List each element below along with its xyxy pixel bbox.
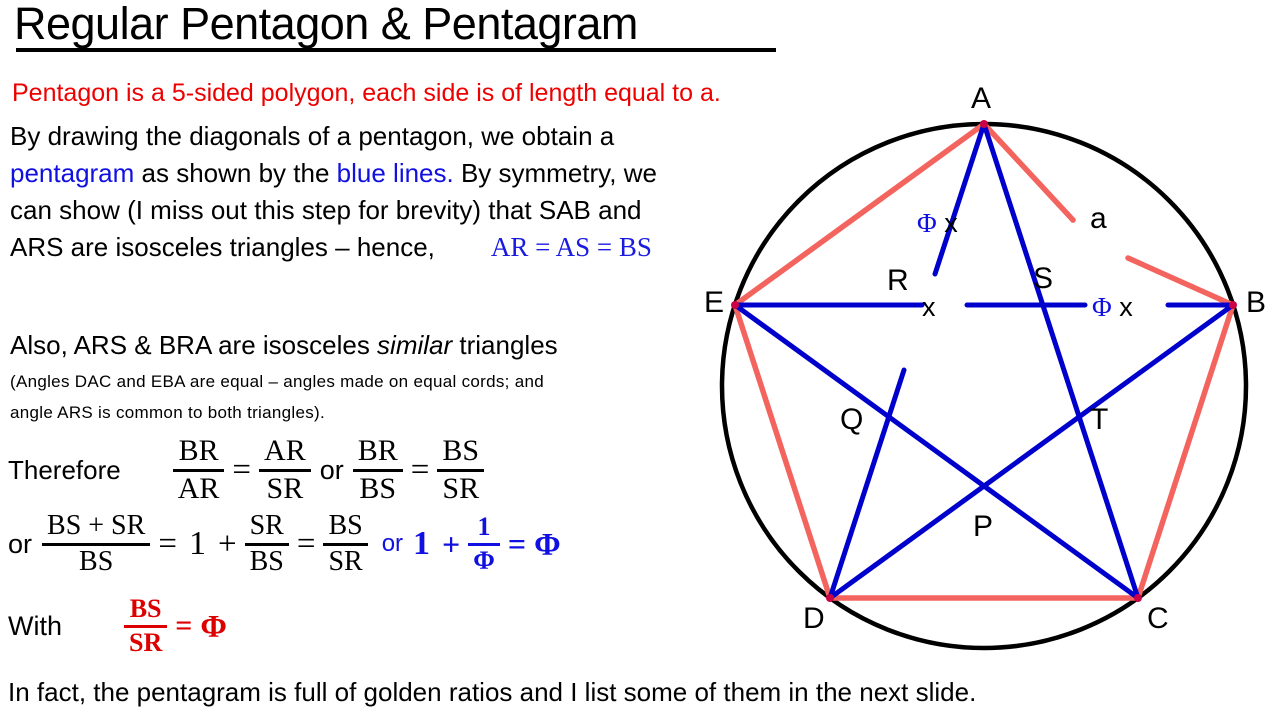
label-phi-x-top: Φ x <box>917 208 958 239</box>
para-part-1: By drawing the diagonals of a pentagon, … <box>10 121 614 151</box>
label-point-T: T <box>1090 403 1108 437</box>
phi-symbol-blue: Φ <box>534 526 561 563</box>
label-vertex-C: C <box>1147 602 1169 636</box>
phi-glyph: Φ <box>917 208 937 238</box>
keyword-pentagram: pentagram <box>10 158 134 188</box>
title-underline <box>16 48 776 52</box>
denominator: BS <box>354 474 401 505</box>
equals-sign-1: = <box>150 526 185 563</box>
intro-red-text: Pentagon is a 5-sided polygon, each side… <box>12 78 721 108</box>
equals-sign-blue: = <box>500 526 534 563</box>
with-equation-row: With BS SR = Φ <box>8 596 227 656</box>
x-glyph: x <box>944 208 958 238</box>
numerator: AR <box>259 436 311 467</box>
with-label: With <box>8 611 62 642</box>
golden-ratio-blue-expression: or 1 + 1 Φ = Φ <box>376 514 561 574</box>
denominator: SR <box>124 630 167 657</box>
denominator: SR <box>262 474 309 505</box>
label-point-S: S <box>1033 262 1053 296</box>
note-line-2: angle ARS is common to both triangles). <box>10 397 700 428</box>
fraction-one-over-phi: 1 Φ <box>468 514 500 574</box>
diagonal-AC <box>984 124 1138 598</box>
note-line-1: (Angles DAC and EBA are equal – angles m… <box>10 366 700 397</box>
fraction-bs-sr: BS SR <box>437 436 484 504</box>
footer-text: In fact, the pentagram is full of golden… <box>8 676 976 708</box>
numerator: BR <box>174 436 224 467</box>
label-point-Q: Q <box>840 403 863 437</box>
label-side-length-a: a <box>1090 202 1107 236</box>
numerator: BR <box>353 436 403 467</box>
denominator: BS <box>245 548 289 577</box>
plus-sign-blue: + <box>434 526 468 563</box>
also-post: triangles <box>452 330 558 360</box>
also-italic-similar: similar <box>377 330 452 360</box>
circumscribed-circle <box>722 124 1246 648</box>
numeral-one: 1 <box>185 525 210 563</box>
slide-root: Regular Pentagon & Pentagram Pentagon is… <box>0 0 1280 720</box>
denominator: AR <box>173 474 225 505</box>
phi-glyph: Φ <box>1092 292 1112 322</box>
also-line: Also, ARS & BRA are isosceles similar tr… <box>10 330 558 360</box>
fraction-bs-sr-red: BS SR <box>124 596 167 656</box>
pentagon-pentagram-figure: A B C D E P Q R S T a x Φ x Φ x <box>690 90 1280 670</box>
parenthetical-note: (Angles DAC and EBA are equal – angles m… <box>10 366 700 428</box>
or-label: or <box>8 529 32 560</box>
plus-sign: + <box>210 526 245 563</box>
diagonal-AD-part1 <box>935 124 984 274</box>
label-x-midsegment: x <box>922 292 936 323</box>
numerator: 1 <box>473 514 496 541</box>
label-vertex-E: E <box>704 286 724 320</box>
diagonal-EC <box>735 305 1138 598</box>
label-vertex-B: B <box>1246 286 1266 320</box>
label-point-R: R <box>887 264 909 298</box>
numerator: BS <box>323 512 367 541</box>
numerator: SR <box>245 512 289 541</box>
bs-over-sr-equals-phi: BS SR = Φ <box>124 596 227 656</box>
x-glyph: x <box>1119 292 1133 322</box>
fraction-sr-bs: SR BS <box>245 512 289 576</box>
main-paragraph: By drawing the diagonals of a pentagon, … <box>10 118 700 266</box>
label-point-P: P <box>973 510 993 544</box>
vertex-dot-B <box>1229 301 1237 309</box>
denominator: BS <box>74 548 118 577</box>
fraction-ar-sr: AR SR <box>259 436 311 504</box>
vertex-dot-E <box>731 301 739 309</box>
equals-sign-2: = <box>403 452 438 489</box>
vertex-dot-D <box>826 594 834 602</box>
label-vertex-A: A <box>971 82 991 116</box>
numerator: BS + SR <box>42 512 150 541</box>
label-vertex-D: D <box>803 602 825 636</box>
label-phi-x-right: Φ x <box>1092 292 1133 323</box>
or-connector-1: or <box>311 455 353 486</box>
numerator: BS <box>125 596 167 623</box>
equals-sign-1: = <box>224 452 259 489</box>
keyword-blue-lines: blue lines. <box>337 158 454 188</box>
denominator: SR <box>323 548 367 577</box>
also-pre: Also, ARS & BRA are isosceles <box>10 330 377 360</box>
numeral-one-blue: 1 <box>409 525 434 563</box>
fraction-br-ar: BR AR <box>173 436 225 504</box>
para-part-2: as shown by the <box>134 158 336 188</box>
therefore-equation-row: Therefore BR AR = AR SR or BR BS = BS SR <box>8 436 484 504</box>
denominator: SR <box>437 474 484 505</box>
equals-sign-2: = <box>289 526 324 563</box>
fraction-br-bs: BR BS <box>353 436 403 504</box>
page-title: Regular Pentagon & Pentagram <box>14 0 638 50</box>
fraction-bs-plus-sr-over-bs: BS + SR BS <box>42 512 150 576</box>
vertex-dot-A <box>980 120 988 128</box>
denominator: Φ <box>468 548 500 575</box>
fraction-bs-sr: BS SR <box>323 512 367 576</box>
numerator: BS <box>437 436 484 467</box>
equation-ar-as-bs: AR = AS = BS <box>491 232 652 262</box>
therefore-label: Therefore <box>8 455 121 486</box>
diagonal-BD <box>830 305 1233 598</box>
or-connector-2: or <box>376 530 409 558</box>
vertex-dot-C <box>1134 594 1142 602</box>
equals-sign-red: = <box>167 609 200 643</box>
phi-symbol-red: Φ <box>200 608 227 645</box>
or-equation-row: or BS + SR BS = 1 + SR BS = BS SR or 1 +… <box>8 512 561 576</box>
